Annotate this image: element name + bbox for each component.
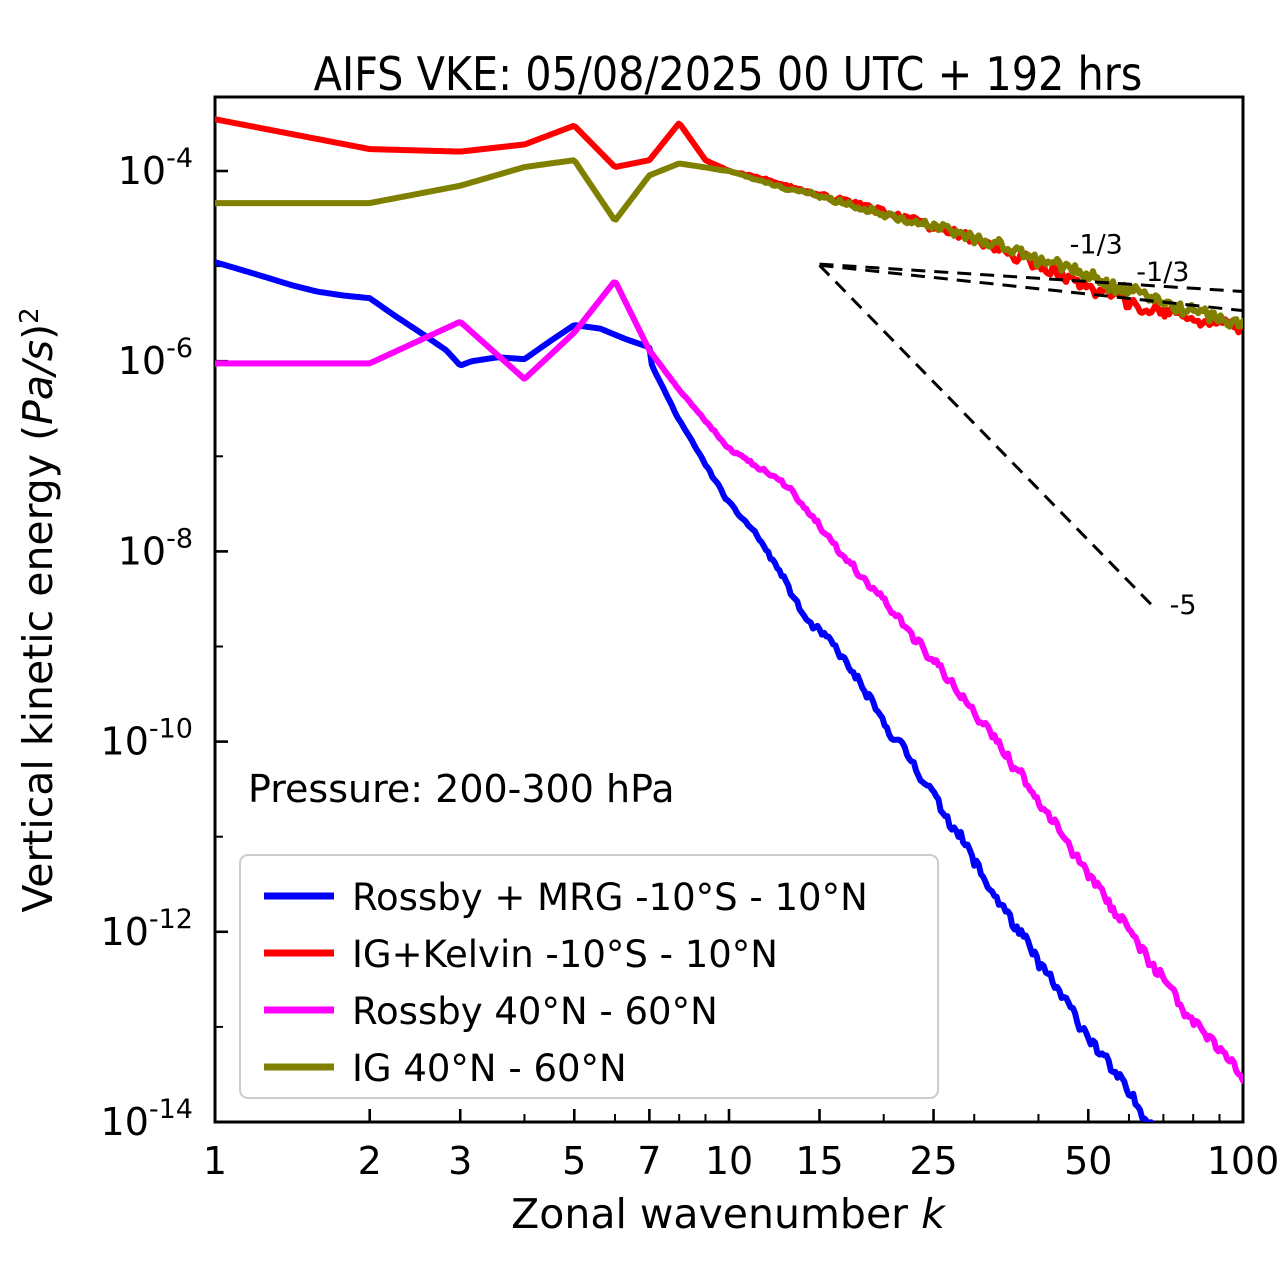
- slope-label-2: -5: [1170, 590, 1197, 621]
- x-tick-label: 10: [705, 1139, 753, 1183]
- legend-label-3: IG 40°N - 60°N: [352, 1047, 627, 1090]
- legend-label-1: IG+Kelvin -10°S - 10°N: [352, 933, 778, 976]
- x-tick-label: 25: [909, 1139, 957, 1183]
- x-tick-label: 2: [358, 1139, 382, 1183]
- x-tick-label: 3: [448, 1139, 472, 1183]
- vke-spectrum-chart: AIFS VKE: 05/08/2025 00 UTC + 192 hrs 10…: [0, 0, 1280, 1288]
- legend: Rossby + MRG -10°S - 10°NIG+Kelvin -10°S…: [240, 855, 938, 1098]
- pressure-annotation: Pressure: 200-300 hPa: [248, 767, 675, 811]
- x-tick-label: 15: [795, 1139, 843, 1183]
- legend-label-0: Rossby + MRG -10°S - 10°N: [352, 876, 868, 919]
- y-axis-title: Vertical kinetic energy (Pa/s)2: [14, 307, 62, 912]
- x-axis-title: Zonal wavenumber k: [511, 1190, 947, 1238]
- x-tick-label: 50: [1064, 1139, 1112, 1183]
- x-tick-label: 5: [562, 1139, 586, 1183]
- x-tick-label: 7: [637, 1139, 661, 1183]
- slope-label-0: -1/3: [1070, 230, 1123, 261]
- x-tick-label: 100: [1207, 1139, 1280, 1183]
- slope-label-1: -1/3: [1136, 257, 1189, 288]
- chart-title: AIFS VKE: 05/08/2025 00 UTC + 192 hrs: [314, 47, 1143, 101]
- x-tick-label: 1: [203, 1139, 227, 1183]
- chart-page: AIFS VKE: 05/08/2025 00 UTC + 192 hrs 10…: [0, 0, 1280, 1288]
- legend-label-2: Rossby 40°N - 60°N: [352, 990, 718, 1033]
